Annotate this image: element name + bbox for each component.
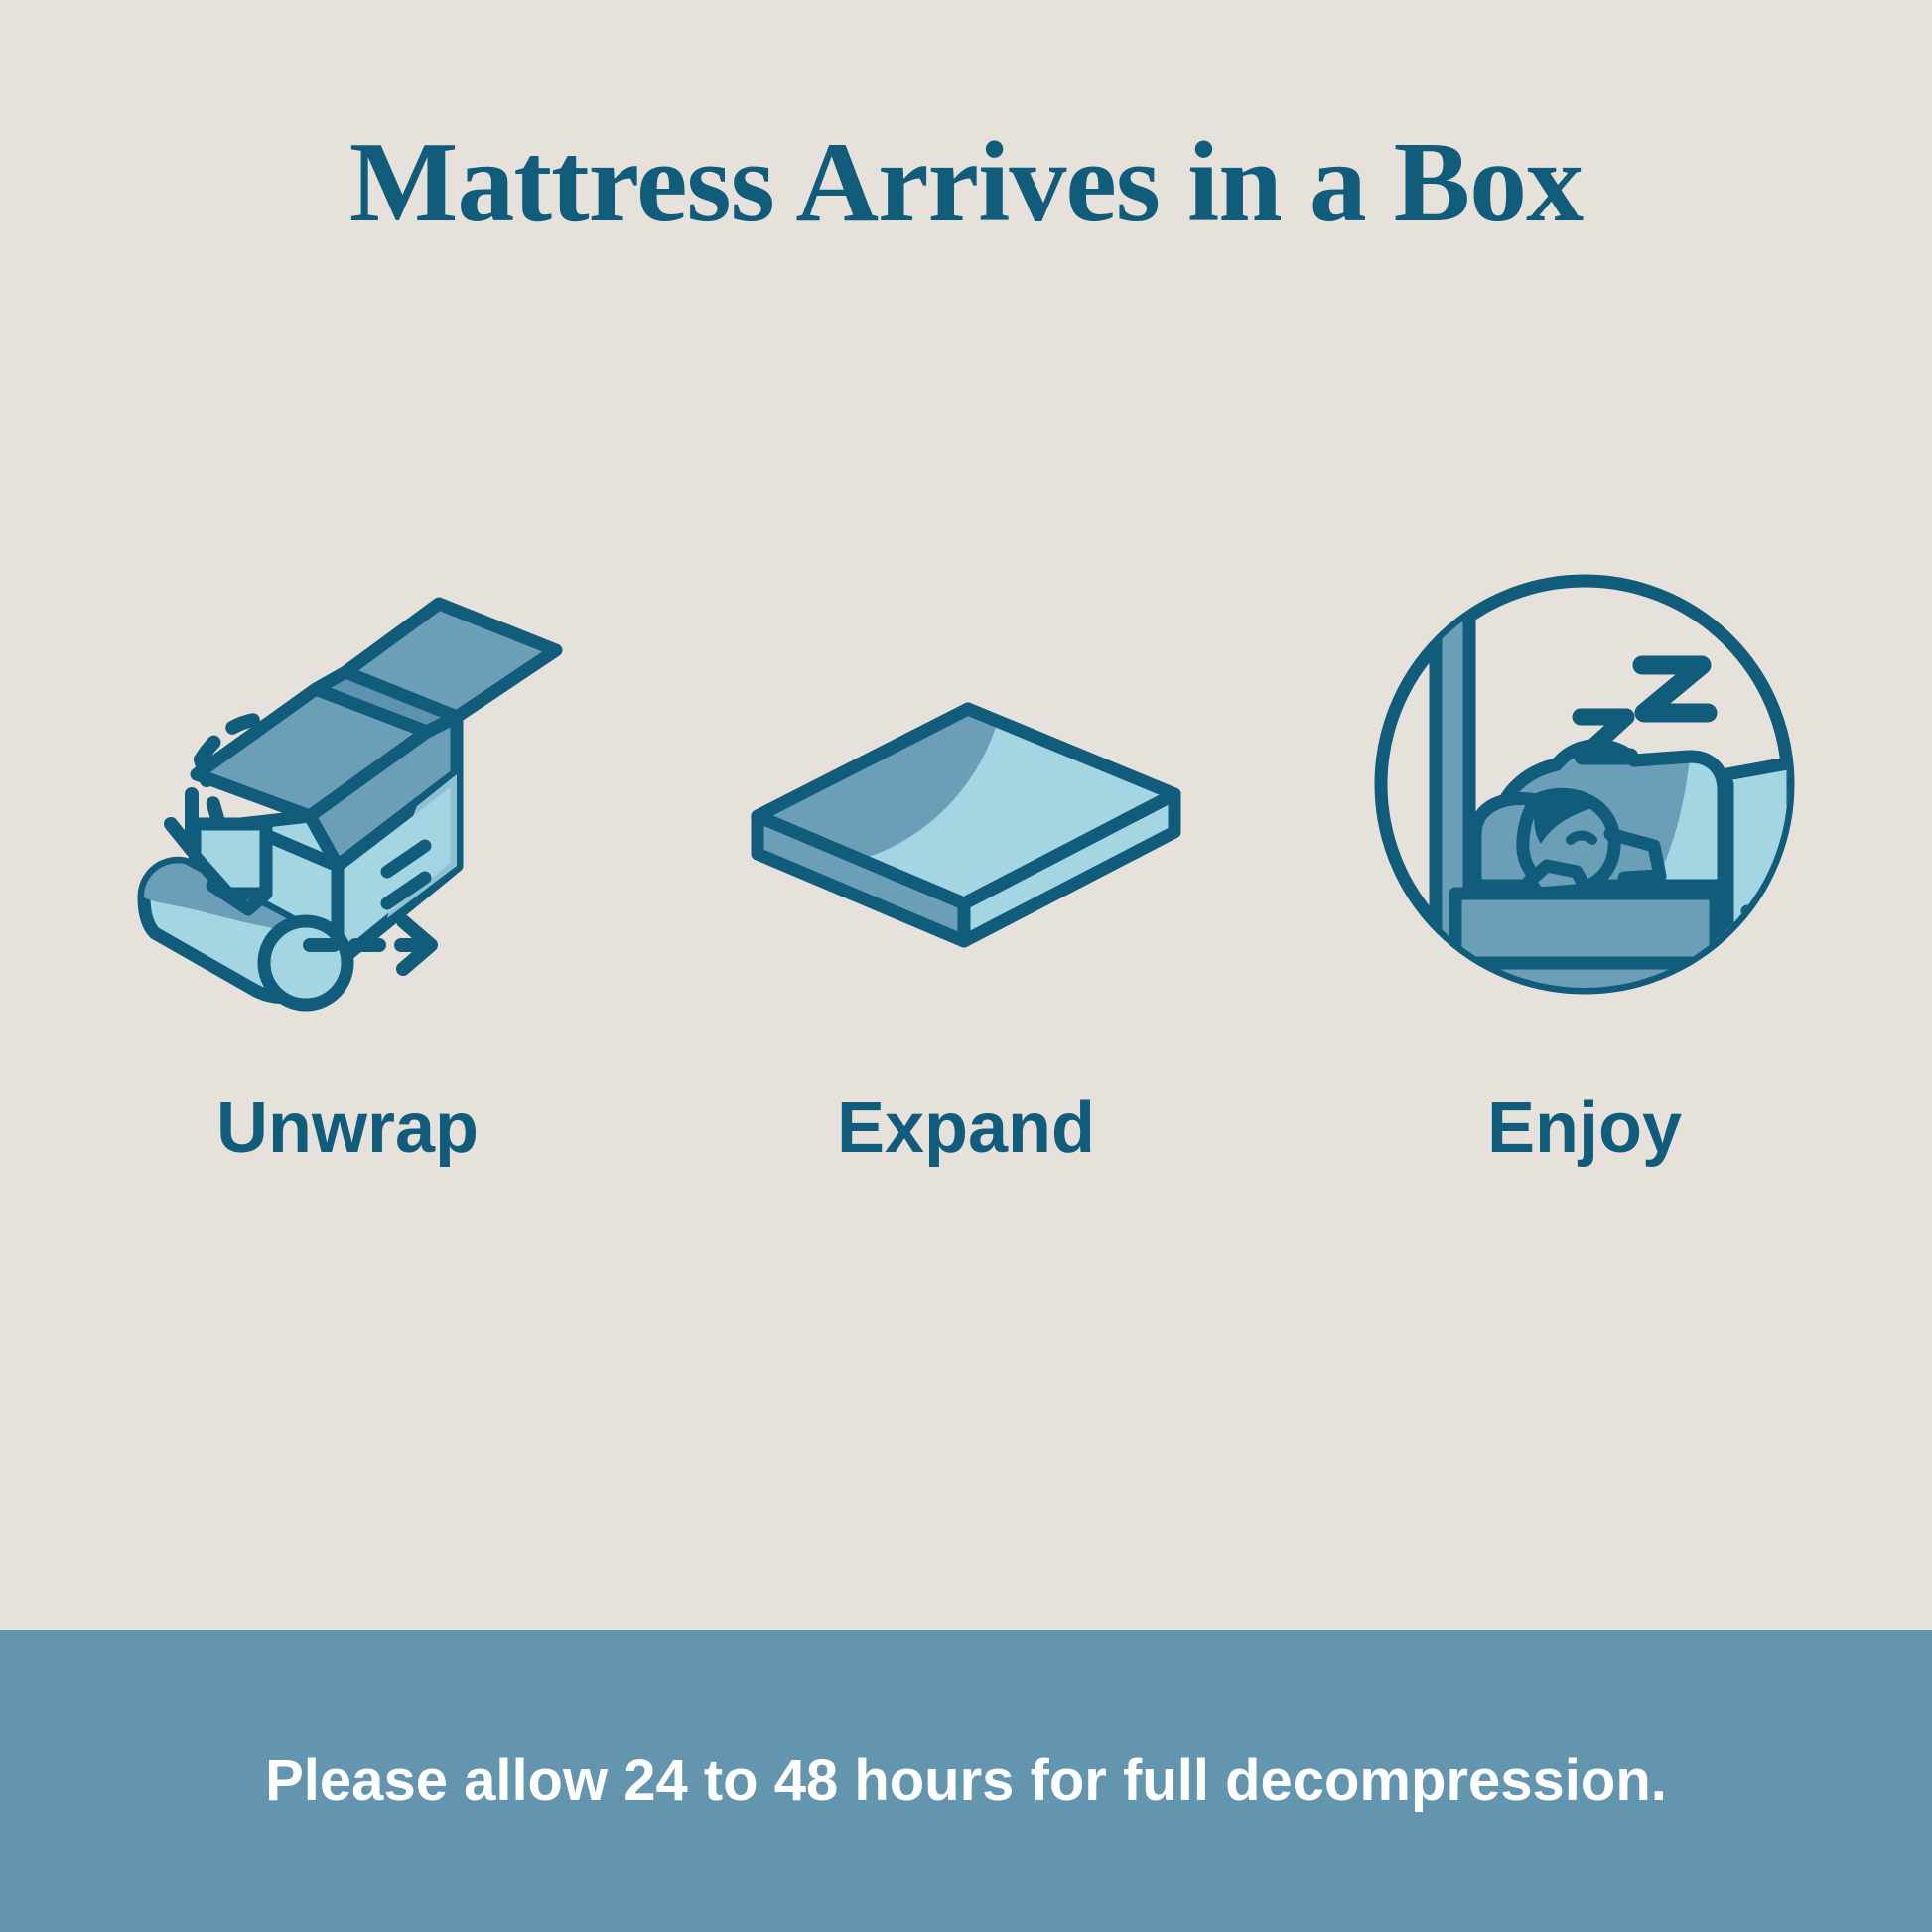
step-expand: Expand bbox=[678, 496, 1254, 1164]
decompression-notice-text: Please allow 24 to 48 hours for full dec… bbox=[265, 1752, 1667, 1810]
mattress-unrolling-from-open-box-icon bbox=[89, 496, 606, 1092]
steps-row: Unwrap bbox=[0, 496, 1932, 1291]
step-unwrap: Unwrap bbox=[60, 496, 635, 1164]
page-title: Mattress Arrives in a Box bbox=[0, 125, 1932, 240]
step-label-expand: Expand bbox=[837, 1092, 1095, 1164]
flat-mattress-icon bbox=[708, 496, 1224, 1092]
step-label-enjoy: Enjoy bbox=[1487, 1092, 1682, 1164]
decompression-notice-banner: Please allow 24 to 48 hours for full dec… bbox=[0, 1630, 1932, 1932]
person-sleeping-in-bed-icon bbox=[1326, 496, 1843, 1092]
infographic-page: Mattress Arrives in a Box bbox=[0, 0, 1932, 1932]
step-enjoy: Enjoy bbox=[1297, 496, 1872, 1164]
step-label-unwrap: Unwrap bbox=[216, 1092, 479, 1164]
